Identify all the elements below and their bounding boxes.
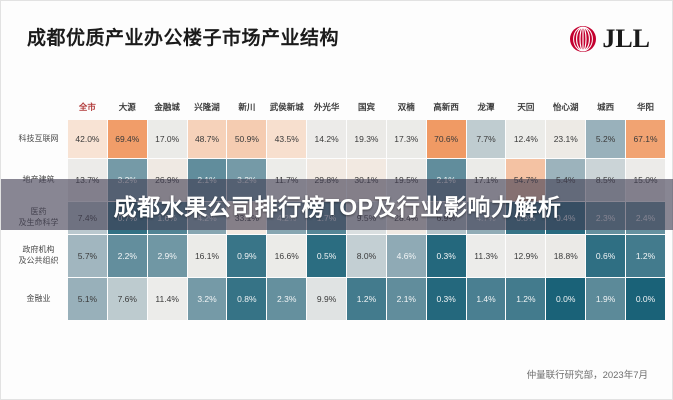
heatmap-cell: 11.4% (148, 278, 187, 320)
heatmap-cell: 7.6% (108, 278, 147, 320)
heatmap-cell: 14.2% (307, 120, 346, 158)
heatmap-cell: 43.5% (267, 120, 306, 158)
heatmap-cell: 0.5% (307, 235, 346, 277)
column-header: 武侯新城 (267, 98, 306, 119)
column-header: 华阳 (626, 98, 665, 119)
heatmap-cell: 42.0% (68, 120, 107, 158)
column-header: 金融城 (148, 98, 187, 119)
heatmap-cell: 2.2% (108, 235, 147, 277)
chart-frame: 成都优质产业办公楼子市场产业结构 JLL 全市大源金融城兴隆湖新川武侯新城外光华… (0, 0, 673, 400)
jll-globe-icon (569, 25, 597, 53)
row-header-line: 及公共组织 (11, 256, 66, 267)
heatmap-cell: 1.2% (506, 278, 545, 320)
row-header-line: 政府机构 (11, 245, 66, 256)
heatmap-cell: 0.6% (586, 235, 625, 277)
heatmap-cell: 0.3% (427, 278, 466, 320)
heatmap-cell: 23.1% (546, 120, 585, 158)
table-row: 金融业5.1%7.6%11.4%3.2%0.8%2.3%9.9%1.2%2.1%… (10, 278, 665, 320)
row-header: 金融业 (10, 278, 67, 320)
heatmap-cell: 1.9% (586, 278, 625, 320)
corner-cell (10, 98, 67, 119)
heatmap-cell: 67.1% (626, 120, 665, 158)
column-header: 龙潭 (467, 98, 506, 119)
row-header: 科技互联网 (10, 120, 67, 158)
heatmap-cell: 69.4% (108, 120, 147, 158)
heatmap-cell: 7.7% (467, 120, 506, 158)
row-header: 政府机构及公共组织 (10, 235, 67, 277)
heatmap-cell: 5.7% (68, 235, 107, 277)
heatmap-cell: 2.1% (387, 278, 426, 320)
heatmap-cell: 0.3% (427, 235, 466, 277)
heatmap-cell: 5.1% (68, 278, 107, 320)
heatmap-cell: 12.9% (506, 235, 545, 277)
heatmap-cell: 16.1% (188, 235, 227, 277)
heatmap-cell: 2.9% (148, 235, 187, 277)
heatmap-cell: 0.9% (227, 235, 266, 277)
source-note: 仲量联行研究部，2023年7月 (527, 367, 648, 381)
row-header-line: 金融业 (11, 294, 66, 305)
column-header: 城西 (586, 98, 625, 119)
heatmap-cell: 17.0% (148, 120, 187, 158)
column-header: 外光华 (307, 98, 346, 119)
column-header: 大源 (108, 98, 147, 119)
heatmap-cell: 16.6% (267, 235, 306, 277)
column-header: 怡心湖 (546, 98, 585, 119)
heatmap-cell: 3.2% (188, 278, 227, 320)
overlay-headline: 成都水果公司排行榜TOP及行业影响力解析 (114, 188, 562, 222)
heatmap-cell: 11.3% (467, 235, 506, 277)
overlay-banner: 成都水果公司排行榜TOP及行业影响力解析 (1, 179, 673, 230)
page-title: 成都优质产业办公楼子市场产业结构 (27, 23, 339, 50)
heatmap-cell: 1.2% (347, 278, 386, 320)
jll-wordmark: JLL (602, 26, 650, 52)
column-header: 全市 (68, 98, 107, 119)
column-header: 新川 (227, 98, 266, 119)
table-row: 政府机构及公共组织5.7%2.2%2.9%16.1%0.9%16.6%0.5%8… (10, 235, 665, 277)
heatmap-cell: 0.0% (546, 278, 585, 320)
column-header: 天回 (506, 98, 545, 119)
heatmap-cell: 70.6% (427, 120, 466, 158)
heatmap-cell: 17.3% (387, 120, 426, 158)
column-header: 高新西 (427, 98, 466, 119)
heatmap-cell: 1.2% (626, 235, 665, 277)
heatmap-cell: 50.9% (227, 120, 266, 158)
heatmap-cell: 9.9% (307, 278, 346, 320)
heatmap-cell: 19.3% (347, 120, 386, 158)
jll-logo: JLL (569, 25, 650, 53)
heatmap-cell: 18.8% (546, 235, 585, 277)
header-row: 全市大源金融城兴隆湖新川武侯新城外光华国宾双楠高新西龙潭天回怡心湖城西华阳 (10, 98, 665, 119)
column-header: 国宾 (347, 98, 386, 119)
heatmap-cell: 12.4% (506, 120, 545, 158)
heatmap-cell: 8.0% (347, 235, 386, 277)
chart-header: 成都优质产业办公楼子市场产业结构 JLL (1, 1, 672, 79)
column-header: 双楠 (387, 98, 426, 119)
heatmap-cell: 1.4% (467, 278, 506, 320)
heatmap-cell: 48.7% (188, 120, 227, 158)
heatmap-cell: 4.6% (387, 235, 426, 277)
heatmap-cell: 0.0% (626, 278, 665, 320)
heatmap-cell: 2.3% (267, 278, 306, 320)
row-header-line: 科技互联网 (11, 134, 66, 145)
heatmap-cell: 5.2% (586, 120, 625, 158)
heatmap-cell: 0.8% (227, 278, 266, 320)
table-row: 科技互联网42.0%69.4%17.0%48.7%50.9%43.5%14.2%… (10, 120, 665, 158)
column-header: 兴隆湖 (188, 98, 227, 119)
